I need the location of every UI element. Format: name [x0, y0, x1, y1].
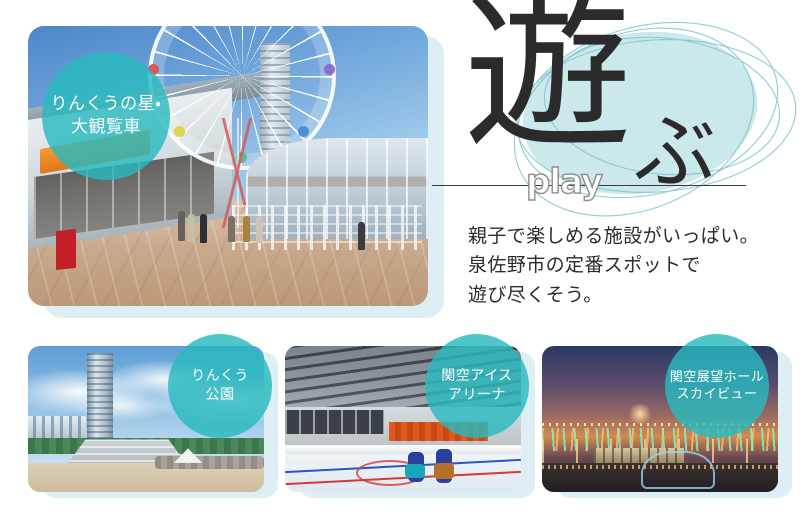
- lead-line-2: 泉佐野市の定番スポットで: [468, 251, 798, 280]
- lead-line-1: 親子で楽しめる施設がいっぱい。: [468, 222, 798, 251]
- title-block: 遊 ぶ play 親子で楽しめる施設がいっぱい。 泉佐野市の定番スポットで 遊び…: [446, 16, 796, 316]
- thumbnail-label-line-2: 公園: [206, 386, 235, 405]
- title-kana: ぶ: [634, 112, 716, 194]
- thumbnail-circle-label[interactable]: 関空アイス アリーナ: [425, 334, 529, 438]
- hero-circle-label-line-2: 大観覧車: [71, 116, 141, 139]
- thumbnail-circle-label[interactable]: りんくう 公園: [168, 334, 272, 438]
- play-section-banner: りんくうの星・ 大観覧車 遊 ぶ play 親子で楽しめる施設がいっぱい。 泉佐…: [0, 0, 800, 515]
- thumbnail-label-line-2: アリーナ: [448, 386, 506, 405]
- visitor: [228, 216, 235, 242]
- thumbnail-label-line-1: 関空アイス: [441, 367, 512, 386]
- thumbnail-label-line-2: スカイビュー: [676, 386, 757, 403]
- thumbnail-card-kanku-ice-arena[interactable]: 関空アイス アリーナ: [285, 338, 535, 498]
- visitor: [188, 214, 195, 242]
- title-kanji: 遊: [464, 0, 632, 158]
- hero-circle-label-line-1: りんくうの星・: [51, 93, 162, 116]
- thumbnail-card-kanku-skyview[interactable]: 関空展望ホール スカイビュー: [542, 338, 792, 498]
- thumbnail-card-rinku-park[interactable]: りんくう 公園: [28, 338, 278, 498]
- title-romaji: play: [526, 162, 602, 202]
- visitor: [243, 216, 250, 242]
- visitor: [256, 216, 263, 243]
- red-sign-board: [56, 229, 76, 270]
- thumbnail-circle-label[interactable]: 関空展望ホール スカイビュー: [665, 334, 769, 438]
- hero-circle-label[interactable]: りんくうの星・ 大観覧車: [42, 52, 170, 180]
- visitor: [178, 211, 185, 241]
- lead-line-3: 遊び尽くそう。: [468, 281, 798, 310]
- visitor: [358, 222, 365, 250]
- lead-paragraph: 親子で楽しめる施設がいっぱい。 泉佐野市の定番スポットで 遊び尽くそう。: [468, 222, 798, 310]
- thumbnail-label-line-1: りんくう: [191, 367, 249, 386]
- thumbnail-label-line-1: 関空展望ホール: [670, 369, 765, 386]
- visitor: [200, 214, 207, 243]
